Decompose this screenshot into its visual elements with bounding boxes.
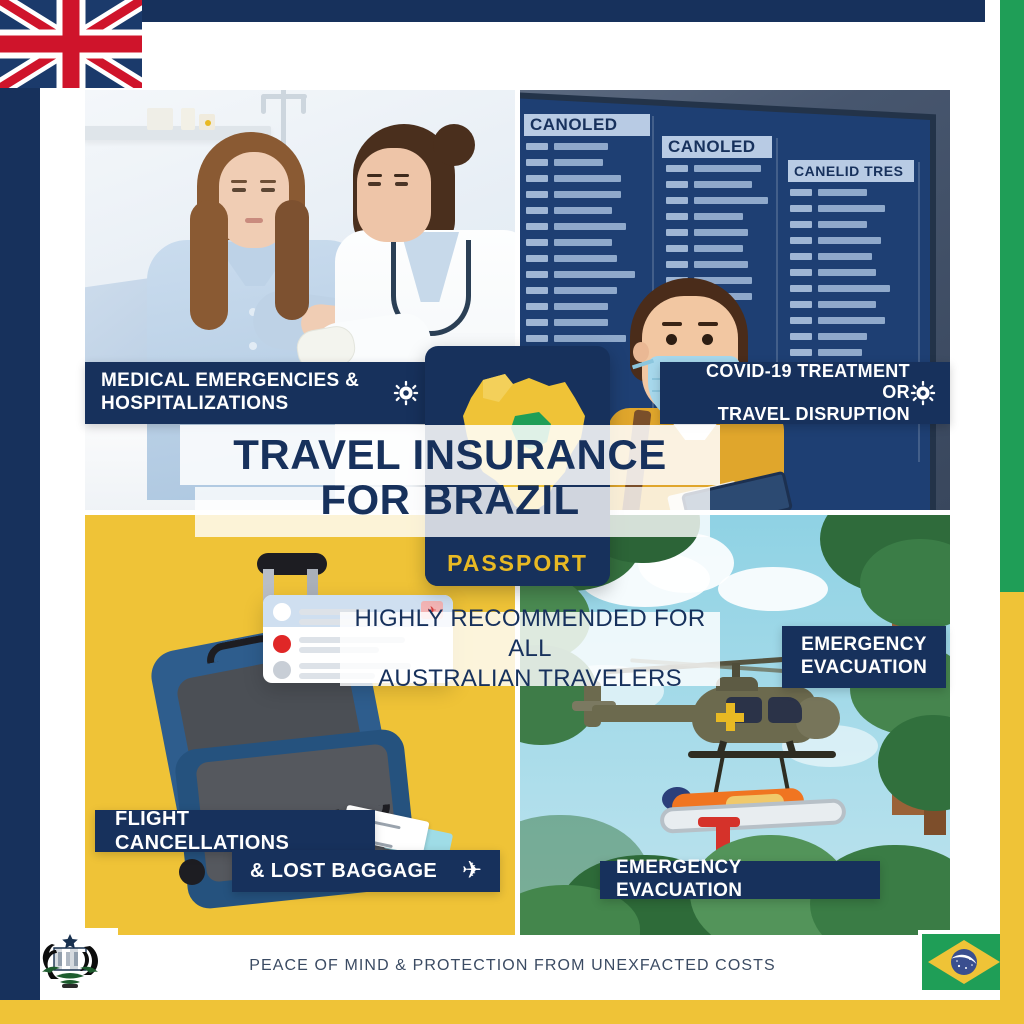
board-row-flight-code — [526, 143, 548, 150]
uk-flag-badge — [0, 0, 142, 88]
covid-label-line1: COVID-19 TREATMENT OR — [674, 361, 910, 404]
board-row-destination — [554, 303, 608, 310]
label-flight-cancellations: FLIGHT CANCELLATIONS — [95, 810, 375, 852]
virus-icon — [910, 380, 936, 406]
board-row-flight-code — [790, 205, 812, 212]
board-row-destination — [818, 333, 867, 340]
patient-eye — [261, 188, 275, 192]
board-row — [790, 234, 910, 246]
board-row — [526, 332, 646, 344]
board-header-3-text: CANELID TRES — [788, 160, 914, 182]
board-row — [790, 298, 910, 310]
label-medical-emergencies: MEDICAL EMERGENCIES & HOSPITALIZATIONS — [85, 362, 435, 424]
patient-hair-strand — [275, 200, 309, 320]
board-row-destination — [694, 181, 752, 188]
traveler-ear — [633, 342, 649, 362]
board-row-destination — [694, 229, 748, 236]
board-row-destination — [818, 269, 876, 276]
doctor-face — [357, 148, 431, 242]
board-row-destination — [554, 159, 603, 166]
board-row-flight-code — [526, 271, 548, 278]
helicopter-landing-skid — [688, 751, 836, 758]
evacuation-label-line1: EMERGENCY — [801, 634, 927, 657]
plane-icon: ✈ — [462, 859, 482, 883]
equipment-indicator-light — [205, 120, 211, 126]
board-row-flight-code — [526, 159, 548, 166]
board-row-flight-code — [666, 181, 688, 188]
board-column-header-3: CANELID TRES — [788, 160, 914, 182]
suitcase-wheel — [179, 859, 205, 885]
board-row-flight-code — [666, 165, 688, 172]
brazil-flag-badge — [918, 930, 1010, 994]
passport-label-bar: PASSPORT — [425, 540, 610, 586]
board-row-destination — [818, 253, 872, 260]
doctor-eye — [395, 182, 408, 186]
board-row-destination — [554, 191, 621, 198]
board-row — [526, 220, 646, 232]
board-row — [526, 172, 646, 184]
board-row — [526, 188, 646, 200]
board-header-2-text: CANOLED — [662, 136, 772, 158]
board-row-flight-code — [526, 207, 548, 214]
board-row-destination — [554, 143, 608, 150]
board-rows-column-1 — [526, 140, 646, 348]
patient-eye — [232, 188, 246, 192]
board-row-destination — [554, 335, 626, 342]
board-row-destination — [694, 165, 761, 172]
recommendation-banner: HIGHLY RECOMMENDED FOR ALL AUSTRALIAN TR… — [340, 612, 720, 686]
iv-stand-hook — [301, 96, 306, 114]
board-row-destination — [818, 189, 867, 196]
board-row — [666, 242, 770, 254]
board-row — [790, 218, 910, 230]
board-row-destination — [818, 221, 867, 228]
label-emergency-evacuation: EMERGENCY EVACUATION — [600, 861, 880, 899]
board-row — [666, 194, 770, 206]
medical-equipment-box — [181, 108, 195, 130]
board-row-flight-code — [526, 255, 548, 262]
board-row-flight-code — [666, 197, 688, 204]
traveler-eye — [702, 334, 713, 345]
board-row-flight-code — [666, 245, 688, 252]
board-row — [790, 266, 910, 278]
patient-eyebrow — [260, 180, 276, 183]
board-row — [526, 268, 646, 280]
board-row-flight-code — [526, 287, 548, 294]
footer-bar: PEACE OF MIND & PROTECTION FROM UNEXFACT… — [40, 946, 985, 986]
page-title: TRAVEL INSURANCE FOR BRAZIL — [180, 432, 720, 523]
board-row-flight-code — [526, 223, 548, 230]
right-border-green-strip — [1000, 0, 1024, 592]
card-status-dot — [273, 661, 291, 679]
board-row-destination — [554, 175, 621, 182]
board-row-destination — [554, 239, 612, 246]
board-row — [790, 314, 910, 326]
board-column-header-1: CANOLED — [524, 114, 650, 136]
board-row-destination — [554, 255, 617, 262]
board-column-header-2: CANOLED — [662, 136, 772, 158]
board-row-flight-code — [790, 301, 812, 308]
board-row — [526, 204, 646, 216]
board-row-flight-code — [790, 237, 812, 244]
helicopter-engine-housing — [716, 677, 758, 691]
brazil-flag-icon — [922, 934, 1006, 990]
board-row-destination — [554, 207, 612, 214]
flight-label-text: FLIGHT CANCELLATIONS — [115, 807, 355, 855]
board-row-flight-code — [790, 269, 812, 276]
right-border-yellow-strip — [1000, 592, 1024, 1024]
traveler-eyebrow — [662, 322, 682, 326]
footer-text: PEACE OF MIND & PROTECTION FROM UNEXFACT… — [249, 957, 776, 975]
board-row-flight-code — [666, 213, 688, 220]
board-row-destination — [554, 223, 626, 230]
board-row — [666, 210, 770, 222]
board-row-destination — [818, 349, 862, 356]
board-row-destination — [554, 271, 635, 278]
label-lost-baggage: & LOST BAGGAGE ✈ — [232, 850, 500, 892]
baggage-label-text: & LOST BAGGAGE — [250, 859, 437, 883]
board-row-destination — [554, 287, 617, 294]
board-row — [666, 162, 770, 174]
evacuation-label-text: EMERGENCY EVACUATION — [616, 857, 864, 903]
medical-label-line2: HOSPITALIZATIONS — [101, 393, 359, 416]
board-row-destination — [694, 197, 768, 204]
board-header-1-text: CANOLED — [524, 114, 650, 136]
card-status-dot-alert — [273, 635, 291, 653]
board-row — [790, 186, 910, 198]
virus-icon — [393, 380, 419, 406]
board-row — [790, 202, 910, 214]
patient-hair-strand — [190, 200, 228, 330]
title-line-2: FOR BRAZIL — [180, 477, 720, 522]
board-row-destination — [694, 245, 743, 252]
board-row-flight-code — [526, 191, 548, 198]
board-row — [526, 284, 646, 296]
top-border-strip — [40, 0, 985, 22]
recommendation-text: HIGHLY RECOMMENDED FOR ALL AUSTRALIAN TR… — [340, 604, 720, 695]
board-row — [526, 300, 646, 312]
board-row — [790, 282, 910, 294]
board-row-flight-code — [526, 239, 548, 246]
board-row-flight-code — [666, 261, 688, 268]
medical-equipment-box — [147, 108, 173, 130]
card-avatar — [273, 603, 291, 621]
board-row-destination — [818, 317, 885, 324]
label-covid-travel-disruption: COVID-19 TREATMENT OR TRAVEL DISRUPTION — [660, 362, 950, 424]
board-row-destination — [694, 213, 743, 220]
board-row-flight-code — [666, 229, 688, 236]
board-row — [526, 316, 646, 328]
board-row-flight-code — [790, 317, 812, 324]
board-row-flight-code — [790, 349, 812, 356]
board-row-destination — [818, 205, 885, 212]
board-row-destination — [554, 319, 608, 326]
board-row-flight-code — [526, 303, 548, 310]
passport-label-text: PASSPORT — [447, 550, 588, 577]
board-row-flight-code — [790, 285, 812, 292]
recommendation-line-2: AUSTRALIAN TRAVELERS — [340, 664, 720, 694]
board-row — [526, 156, 646, 168]
board-row-destination — [818, 237, 881, 244]
recommendation-line-1: HIGHLY RECOMMENDED FOR ALL — [340, 604, 720, 664]
union-jack-flag-icon — [0, 0, 142, 88]
board-row — [790, 250, 910, 262]
left-border-strip — [0, 0, 40, 1024]
medical-cross-icon — [716, 703, 744, 731]
title-line-1: TRAVEL INSURANCE — [180, 432, 720, 477]
board-row-flight-code — [790, 333, 812, 340]
doctor-hair-bun — [433, 124, 475, 166]
board-row — [666, 258, 770, 270]
board-row — [790, 346, 910, 358]
doctor-eye — [368, 182, 381, 186]
board-row — [666, 178, 770, 190]
board-row-flight-code — [790, 189, 812, 196]
board-row-flight-code — [526, 175, 548, 182]
board-row-flight-code — [526, 319, 548, 326]
board-row-flight-code — [790, 253, 812, 260]
board-row-destination — [818, 301, 876, 308]
cloud — [718, 567, 828, 611]
traveler-eyebrow — [698, 322, 718, 326]
iv-stand-hook — [261, 96, 266, 114]
doctor-eyebrow — [394, 174, 409, 177]
bottom-border-strip — [0, 1000, 1024, 1024]
traveler-eye — [666, 334, 677, 345]
helicopter-tail-boom — [592, 705, 704, 722]
helicopter-nose — [796, 697, 840, 739]
board-row — [526, 236, 646, 248]
covid-label-line2: TRAVEL DISRUPTION — [674, 404, 910, 426]
board-row-destination — [818, 285, 890, 292]
helicopter-cockpit-window — [768, 697, 802, 723]
infographic-poster: CANOLED CANOLED CANELID TRES — [0, 0, 1024, 1024]
board-row — [526, 252, 646, 264]
patient-eyebrow — [231, 180, 247, 183]
label-emergency-evacuation-small: EMERGENCY EVACUATION — [782, 626, 946, 688]
evacuation-label-line2: EVACUATION — [801, 657, 927, 680]
doctor-eyebrow — [367, 174, 382, 177]
board-row-flight-code — [526, 335, 548, 342]
board-row — [526, 140, 646, 152]
board-row-destination — [694, 261, 748, 268]
patient-shirt-button — [249, 342, 257, 350]
board-row-flight-code — [790, 221, 812, 228]
board-row — [666, 226, 770, 238]
medical-label-line1: MEDICAL EMERGENCIES & — [101, 370, 359, 393]
board-row — [790, 330, 910, 342]
patient-mouth — [245, 218, 263, 223]
